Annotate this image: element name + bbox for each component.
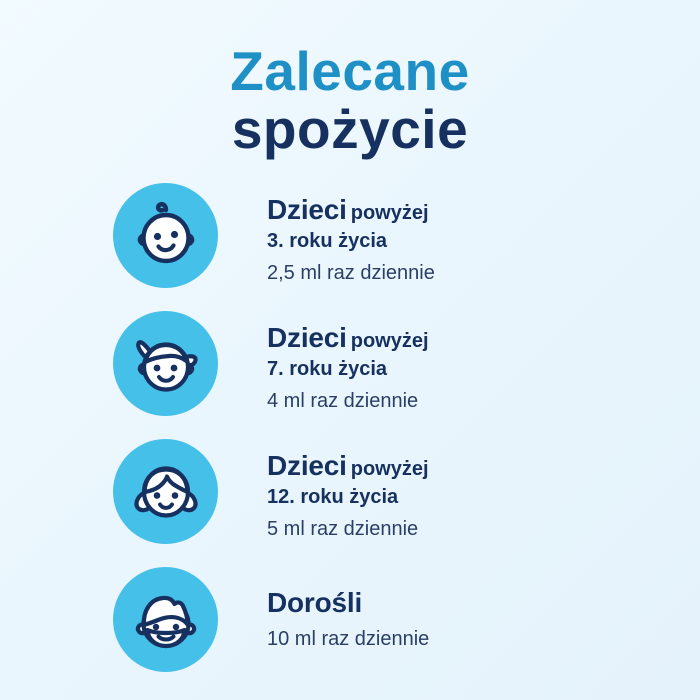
list-item-heading: Dziecipowyżej xyxy=(267,196,435,224)
list-item-dose: 2,5 ml raz dziennie xyxy=(267,262,435,285)
list-item-heading-strong: Dzieci xyxy=(267,450,347,481)
teen-girl-face-icon xyxy=(126,452,206,532)
list-item-heading: Dziecipowyżej xyxy=(267,324,429,352)
list-item: Dziecipowyżej 7. roku życia 4 ml raz dzi… xyxy=(0,311,700,439)
list-item-subheading: 7. roku życia xyxy=(267,359,429,380)
list-item-text: Dorośli 10 ml raz dziennie xyxy=(267,567,429,651)
list-item-subheading: 3. roku życia xyxy=(267,231,435,252)
page-title-line-1: Zalecane xyxy=(0,42,700,100)
teen-girl-face-icon-badge xyxy=(113,439,218,544)
adult-man-face-icon-badge xyxy=(113,567,218,672)
dosage-infographic: Zalecane spożycie xyxy=(0,0,700,700)
baby-face-icon xyxy=(126,196,206,276)
list-item-heading: Dziecipowyżej xyxy=(267,452,429,480)
baby-face-icon-badge xyxy=(113,183,218,288)
list-item-subheading: 12. roku życia xyxy=(267,487,429,508)
list-item-dose: 4 ml raz dziennie xyxy=(267,390,429,413)
list-item-heading-small: powyżej xyxy=(351,202,429,224)
list-item-heading-strong: Dzieci xyxy=(267,322,347,353)
page-title-line-2: spożycie xyxy=(0,100,700,158)
list-item-dose: 10 ml raz dziennie xyxy=(267,628,429,651)
page-title: Zalecane spożycie xyxy=(0,0,700,158)
list-item-heading: Dorośli xyxy=(267,589,429,617)
list-item-text: Dziecipowyżej 12. roku życia 5 ml raz dz… xyxy=(267,439,429,541)
list-item-heading-small: powyżej xyxy=(351,330,429,352)
dosage-list: Dziecipowyżej 3. roku życia 2,5 ml raz d… xyxy=(0,183,700,687)
girl-pigtails-face-icon-badge xyxy=(113,311,218,416)
list-item: Dziecipowyżej 12. roku życia 5 ml raz dz… xyxy=(0,439,700,567)
list-item-heading-strong: Dzieci xyxy=(267,194,347,225)
list-item-text: Dziecipowyżej 3. roku życia 2,5 ml raz d… xyxy=(267,183,435,285)
list-item-text: Dziecipowyżej 7. roku życia 4 ml raz dzi… xyxy=(267,311,429,413)
list-item: Dziecipowyżej 3. roku życia 2,5 ml raz d… xyxy=(0,183,700,311)
list-item-dose: 5 ml raz dziennie xyxy=(267,518,429,541)
girl-pigtails-face-icon xyxy=(126,324,206,404)
list-item-heading-strong: Dorośli xyxy=(267,587,362,618)
list-item-heading-small: powyżej xyxy=(351,458,429,480)
adult-man-face-icon xyxy=(126,580,206,660)
list-item: Dorośli 10 ml raz dziennie xyxy=(0,567,700,687)
